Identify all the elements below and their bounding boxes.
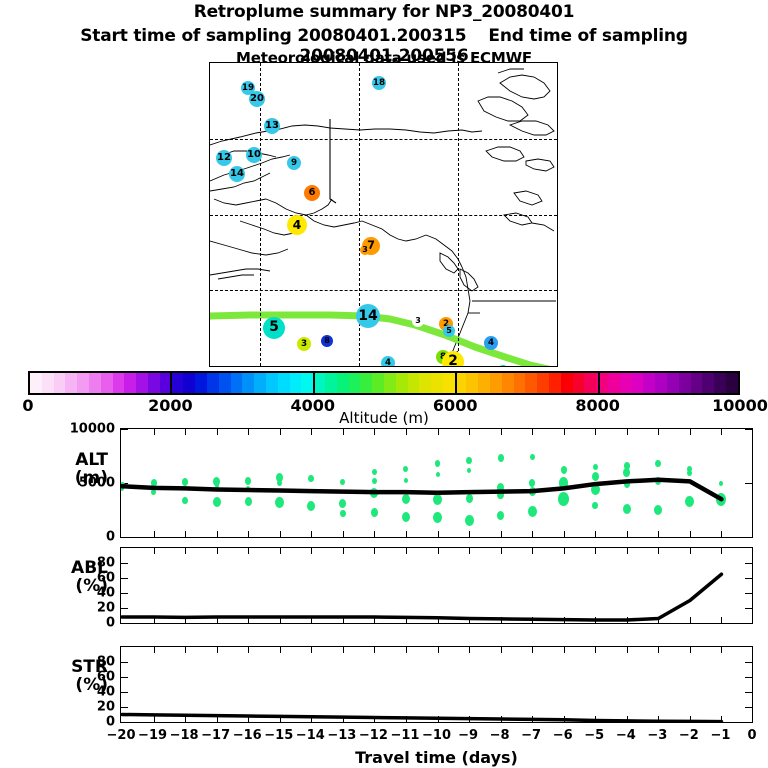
y-tick-label: 5000 <box>60 476 115 491</box>
colorbar-swatch <box>443 373 455 393</box>
colorbar-swatch <box>632 373 644 393</box>
x-tick-label: −13 <box>327 728 356 743</box>
colorbar-swatch <box>136 373 148 393</box>
x-tick-label: −11 <box>390 728 419 743</box>
y-tick-label: 0 <box>60 530 115 545</box>
cluster-marker[interactable]: 14 <box>356 304 380 328</box>
start-time-label: Start time of sampling 20080401.200315 <box>80 26 466 46</box>
colorbar-swatch <box>301 373 313 393</box>
y-tick-label: 60 <box>60 571 115 586</box>
colorbar-swatch <box>219 373 231 393</box>
x-tick-label: 0 <box>747 728 756 743</box>
colorbar-swatch <box>372 373 384 393</box>
x-tick-label: −14 <box>296 728 325 743</box>
alt-panel[interactable] <box>120 428 753 538</box>
colorbar-swatch <box>183 373 195 393</box>
colorbar-swatch <box>702 373 714 393</box>
colorbar-swatch <box>726 373 738 393</box>
colorbar-swatch <box>584 373 596 393</box>
x-tick-label: −10 <box>422 728 451 743</box>
colorbar-swatch <box>608 373 620 393</box>
colorbar-swatch <box>113 373 125 393</box>
colorbar-swatch <box>231 373 243 393</box>
colorbar-swatch <box>89 373 101 393</box>
x-tick-label: −4 <box>616 728 636 743</box>
cluster-marker[interactable]: 8 <box>321 335 333 347</box>
colorbar-swatch <box>54 373 66 393</box>
colorbar-swatch <box>537 373 549 393</box>
y-tick <box>745 623 752 624</box>
str-panel[interactable] <box>120 646 753 723</box>
colorbar-swatch <box>254 373 266 393</box>
cluster-marker[interactable]: 12 <box>216 150 232 166</box>
x-tick-label: −6 <box>553 728 573 743</box>
cluster-marker[interactable]: 18 <box>372 76 386 90</box>
x-tick-label: −20 <box>107 728 136 743</box>
cluster-marker[interactable]: 6 <box>498 365 508 367</box>
cluster-marker[interactable]: 10 <box>246 147 262 163</box>
x-tick-label: −8 <box>490 728 510 743</box>
x-tick-label: −16 <box>233 728 262 743</box>
y-tick-label: 80 <box>60 556 115 571</box>
cluster-markers[interactable]: 4731453832548269214161711612151819209131… <box>210 63 557 366</box>
cluster-marker[interactable]: 9 <box>287 156 301 170</box>
x-tick-label: −17 <box>201 728 230 743</box>
colorbar-swatch <box>266 373 278 393</box>
x-tick-label: −2 <box>679 728 699 743</box>
x-axis-label: Travel time (days) <box>120 748 753 767</box>
colorbar-swatch <box>325 373 337 393</box>
y-tick-label: 60 <box>60 670 115 685</box>
y-tick-label: 20 <box>60 601 115 616</box>
colorbar-swatch <box>195 373 207 393</box>
colorbar-swatch <box>42 373 54 393</box>
x-tick-label: −12 <box>359 728 388 743</box>
colorbar-swatch <box>290 373 302 393</box>
colorbar-swatch <box>490 373 502 393</box>
colorbar-swatch <box>172 373 184 393</box>
cluster-marker[interactable]: 4 <box>484 336 498 350</box>
x-tick-label: −15 <box>264 728 293 743</box>
cluster-marker[interactable]: 4 <box>287 215 307 235</box>
colorbar-swatch <box>30 373 42 393</box>
colorbar-swatch <box>431 373 443 393</box>
colorbar-swatch <box>667 373 679 393</box>
colorbar-swatch <box>655 373 667 393</box>
x-tick-label: −18 <box>170 728 199 743</box>
trend-line <box>121 548 752 623</box>
colorbar-swatch <box>620 373 632 393</box>
cluster-marker[interactable]: 13 <box>264 118 280 134</box>
trend-line <box>121 429 752 537</box>
colorbar-swatch <box>77 373 89 393</box>
colorbar-swatch <box>384 373 396 393</box>
y-tick-label: 80 <box>60 655 115 670</box>
colorbar-divider <box>313 371 315 395</box>
colorbar-swatch <box>360 373 372 393</box>
y-tick-label: 40 <box>60 685 115 700</box>
colorbar-swatch <box>514 373 526 393</box>
cluster-marker[interactable]: 4 <box>381 356 395 367</box>
colorbar-swatch <box>349 373 361 393</box>
colorbar-swatch <box>549 373 561 393</box>
colorbar-swatch <box>337 373 349 393</box>
colorbar-swatch <box>714 373 726 393</box>
x-tick-label: −9 <box>458 728 478 743</box>
y-tick <box>121 537 128 538</box>
colorbar-axis-label: Altitude (m) <box>0 409 768 427</box>
colorbar-swatch <box>101 373 113 393</box>
x-tick-label: −19 <box>138 728 167 743</box>
cluster-marker[interactable]: 20 <box>249 91 265 107</box>
colorbar-swatch <box>313 373 325 393</box>
colorbar-swatch <box>466 373 478 393</box>
colorbar-swatch <box>207 373 219 393</box>
x-tick-label: −7 <box>521 728 541 743</box>
y-tick <box>121 623 128 624</box>
cluster-marker[interactable]: 5 <box>443 325 455 337</box>
page-title: Retroplume summary for NP3_20080401 <box>0 2 768 22</box>
cluster-marker[interactable]: 3 <box>297 337 311 351</box>
colorbar-swatch <box>419 373 431 393</box>
cluster-marker[interactable]: 3 <box>412 315 424 327</box>
abl-panel[interactable] <box>120 547 753 624</box>
y-tick-label: 10000 <box>60 422 115 437</box>
y-tick <box>745 722 752 723</box>
x-tick-label: −3 <box>647 728 667 743</box>
colorbar-swatch <box>691 373 703 393</box>
colorbar-swatch <box>679 373 691 393</box>
cluster-marker[interactable]: 14 <box>229 166 245 182</box>
colorbar-swatch <box>408 373 420 393</box>
colorbar-swatch <box>643 373 655 393</box>
cluster-marker[interactable]: 5 <box>263 317 285 339</box>
colorbar-swatch <box>478 373 490 393</box>
colorbar-swatch <box>148 373 160 393</box>
retroplume-map[interactable]: 4731453832548269214161711612151819209131… <box>209 62 558 367</box>
colorbar-swatch <box>502 373 514 393</box>
y-tick <box>121 722 128 723</box>
colorbar-divider <box>170 371 172 395</box>
colorbar-swatch <box>573 373 585 393</box>
x-tick-label: −5 <box>584 728 604 743</box>
colorbar-swatch <box>278 373 290 393</box>
colorbar-swatch <box>124 373 136 393</box>
colorbar-divider <box>598 371 600 395</box>
colorbar-swatch <box>396 373 408 393</box>
cluster-marker[interactable]: 3 <box>360 245 370 255</box>
colorbar-divider <box>455 371 457 395</box>
cluster-marker[interactable]: 6 <box>304 185 320 201</box>
colorbar-swatch <box>242 373 254 393</box>
x-tick-label: −1 <box>710 728 730 743</box>
y-tick-label: 20 <box>60 700 115 715</box>
colorbar-swatch <box>525 373 537 393</box>
altitude-colorbar[interactable] <box>28 371 740 395</box>
y-tick-label: 40 <box>60 586 115 601</box>
cluster-marker[interactable]: 2 <box>442 351 464 367</box>
colorbar-swatch <box>65 373 77 393</box>
colorbar-swatch <box>561 373 573 393</box>
trend-line <box>121 647 752 722</box>
y-tick-label: 0 <box>60 616 115 631</box>
y-tick <box>745 537 752 538</box>
